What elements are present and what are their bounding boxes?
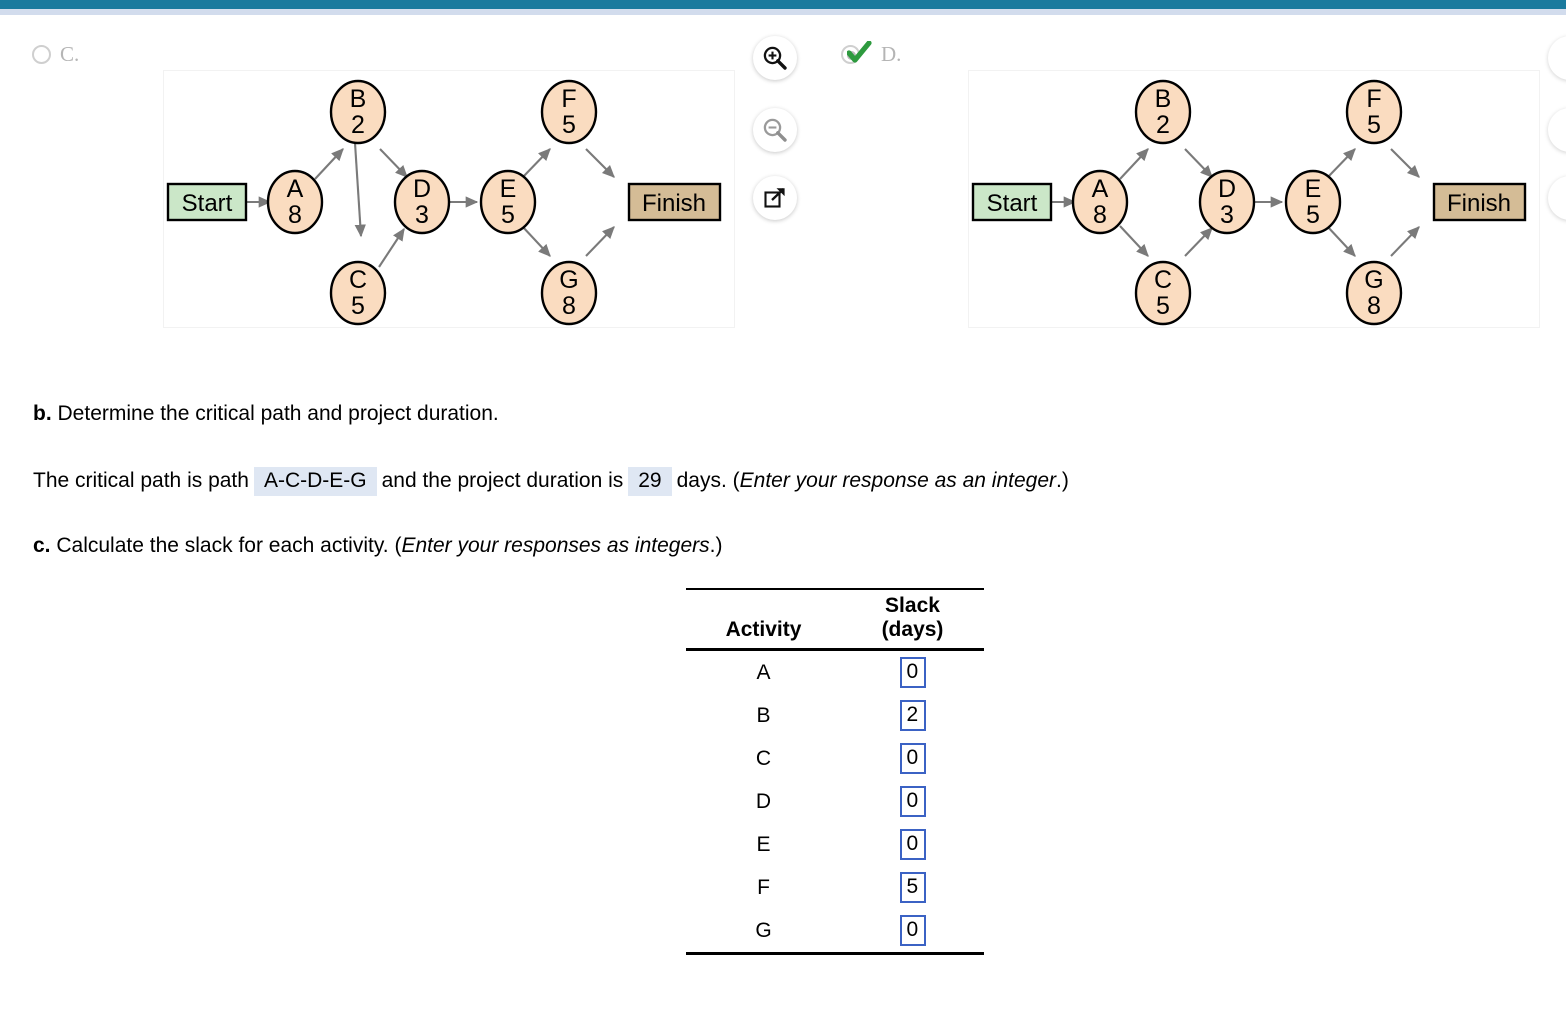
part-c-label: c. [33, 534, 51, 557]
diagram-d-node-d: D 3 [1200, 171, 1254, 233]
diagram-c-node-e: E 5 [481, 171, 535, 233]
activity-name-cell: A [686, 650, 841, 695]
table-row: A 0 [686, 650, 984, 695]
app-secondary-bar [0, 9, 1566, 15]
slack-table-body: A 0 B 2 C 0 D [686, 650, 984, 954]
slack-input-a[interactable]: 0 [900, 657, 926, 688]
diagram-c-node-f: F 5 [542, 81, 596, 143]
table-row: E 0 [686, 823, 984, 866]
start-label: Start [182, 190, 233, 217]
activity-name-cell: B [686, 694, 841, 737]
diagram-d-node-a: A 8 [1073, 171, 1127, 233]
node-d-duration: 3 [415, 201, 429, 229]
page-root: C. Start [0, 0, 1566, 1016]
slack-value-cell: 5 [841, 866, 984, 909]
node-e-duration: 5 [501, 201, 515, 229]
node-a-duration: 8 [1093, 201, 1107, 229]
part-b-label: b. [33, 402, 52, 425]
node-d-name: D [413, 175, 431, 203]
answer-option-c[interactable]: C. [32, 42, 79, 67]
node-e-name: E [1305, 175, 1322, 203]
table-row: C 0 [686, 737, 984, 780]
option-c-header[interactable]: C. [32, 42, 79, 67]
diagram-d-node-g: G 8 [1347, 262, 1401, 324]
node-g-name: G [559, 266, 578, 294]
network-diagram-option-d[interactable]: Start A 8 B 2 C 5 D 3 [968, 70, 1540, 328]
part-b-prompt: b. Determine the critical path and proje… [33, 402, 499, 426]
option-c-label: C. [60, 42, 79, 67]
part-b-prompt-text: Determine the critical path and project … [58, 402, 499, 425]
app-accent-bar [0, 0, 1566, 9]
option-d-label: D. [881, 42, 901, 67]
node-g-duration: 8 [562, 292, 576, 320]
part-c-prompt-text: Calculate the slack for each activity. ( [56, 534, 401, 557]
diagram-c-start-node: Start [168, 184, 246, 220]
node-g-duration: 8 [1367, 292, 1381, 320]
critical-path-answer-field[interactable]: A-C-D-E-G [254, 467, 377, 496]
diagram-c-node-b: B 2 [331, 81, 385, 143]
diagram-d-svg: Start A 8 B 2 C 5 D 3 [969, 71, 1539, 327]
table-row: B 2 [686, 694, 984, 737]
part-b-hint-italic: Enter your response as an integer [740, 469, 1056, 492]
radio-button-option-d[interactable] [841, 44, 864, 65]
slack-value-cell: 0 [841, 823, 984, 866]
node-d-name: D [1218, 175, 1236, 203]
critical-path-sentence-3: days. ( [677, 469, 740, 492]
zoom-out-icon [762, 117, 788, 143]
diagram-c-finish-node: Finish [629, 184, 720, 220]
project-duration-answer-field[interactable]: 29 [628, 467, 671, 496]
slack-input-e[interactable]: 0 [900, 829, 926, 860]
node-d-duration: 3 [1220, 201, 1234, 229]
node-a-name: A [287, 175, 304, 203]
slack-table: Activity Slack (days) A 0 B [686, 588, 984, 955]
node-f-duration: 5 [562, 111, 576, 139]
answer-option-d[interactable]: D. [841, 42, 901, 67]
node-e-name: E [500, 175, 517, 203]
column-header-slack: Slack (days) [841, 589, 984, 650]
critical-path-sentence-1: The critical path is path [33, 469, 249, 492]
table-row: G 0 [686, 909, 984, 954]
diagram-c-node-c: C 5 [331, 262, 385, 324]
zoom-out-button[interactable] [753, 108, 797, 152]
diagram-d-finish-node: Finish [1434, 184, 1525, 220]
finish-label: Finish [1447, 190, 1511, 217]
column-header-slack-line2: (days) [841, 618, 984, 642]
slack-table-header-row: Activity Slack (days) [686, 589, 984, 650]
part-c-hint-italic: Enter your responses as integers [401, 534, 709, 557]
finish-label: Finish [642, 190, 706, 217]
slack-input-c[interactable]: 0 [900, 743, 926, 774]
diagram-d-node-b: B 2 [1136, 81, 1190, 143]
slack-value-cell: 0 [841, 780, 984, 823]
node-f-name: F [1366, 85, 1381, 113]
correct-check-icon [847, 41, 873, 70]
slack-input-f[interactable]: 5 [900, 872, 926, 903]
activity-name-cell: E [686, 823, 841, 866]
node-b-name: B [1155, 85, 1172, 113]
node-c-name: C [1154, 266, 1172, 294]
slack-value-cell: 0 [841, 737, 984, 780]
column-header-slack-line1: Slack [841, 594, 984, 618]
network-diagram-option-c[interactable]: Start A 8 B 2 C 5 D 3 [163, 70, 735, 328]
slack-table-head: Activity Slack (days) [686, 589, 984, 650]
start-label: Start [987, 190, 1038, 217]
diagram-c-node-g: G 8 [542, 262, 596, 324]
activity-name-cell: D [686, 780, 841, 823]
node-c-duration: 5 [1156, 292, 1170, 320]
activity-name-cell: G [686, 909, 841, 954]
radio-button-option-c[interactable] [32, 45, 51, 64]
diagram-d-node-f: F 5 [1347, 81, 1401, 143]
node-c-name: C [349, 266, 367, 294]
table-row: D 0 [686, 780, 984, 823]
column-header-activity: Activity [686, 589, 841, 650]
diagram-d-node-c: C 5 [1136, 262, 1190, 324]
popout-button-secondary[interactable] [1548, 176, 1566, 220]
node-b-duration: 2 [351, 111, 365, 139]
option-d-header[interactable]: D. [841, 42, 901, 67]
critical-path-sentence-2: and the project duration is [382, 469, 624, 492]
node-c-duration: 5 [351, 292, 365, 320]
node-a-duration: 8 [288, 201, 302, 229]
diagram-c-node-a: A 8 [268, 171, 322, 233]
critical-path-sentence-4: .) [1056, 469, 1069, 492]
slack-value-cell: 2 [841, 694, 984, 737]
zoom-in-button-secondary[interactable] [1548, 36, 1566, 80]
column-header-activity-text: Activity [686, 618, 841, 642]
node-b-duration: 2 [1156, 111, 1170, 139]
open-in-new-window-icon [762, 185, 788, 211]
diagram-c-svg: Start A 8 B 2 C 5 D 3 [164, 71, 734, 327]
activity-name-cell: F [686, 866, 841, 909]
node-f-duration: 5 [1367, 111, 1381, 139]
part-c-prompt-end: .) [710, 534, 723, 557]
slack-value-cell: 0 [841, 650, 984, 695]
node-f-name: F [561, 85, 576, 113]
slack-input-g[interactable]: 0 [900, 915, 926, 946]
node-a-name: A [1092, 175, 1109, 203]
diagram-d-start-node: Start [973, 184, 1051, 220]
node-g-name: G [1364, 266, 1383, 294]
zoom-out-button-secondary[interactable] [1548, 108, 1566, 152]
popout-button[interactable] [753, 176, 797, 220]
diagram-c-node-d: D 3 [395, 171, 449, 233]
part-b-answer-line: The critical path is pathA-C-D-E-Gand th… [33, 467, 1069, 496]
slack-input-d[interactable]: 0 [900, 786, 926, 817]
slack-value-cell: 0 [841, 909, 984, 954]
node-b-name: B [350, 85, 367, 113]
diagram-d-node-e: E 5 [1286, 171, 1340, 233]
zoom-in-button[interactable] [753, 36, 797, 80]
slack-input-b[interactable]: 2 [900, 700, 926, 731]
activity-name-cell: C [686, 737, 841, 780]
slack-table-element: Activity Slack (days) A 0 B [686, 588, 984, 955]
node-e-duration: 5 [1306, 201, 1320, 229]
part-c-prompt: c. Calculate the slack for each activity… [33, 534, 722, 558]
zoom-in-icon [762, 45, 788, 71]
table-row: F 5 [686, 866, 984, 909]
